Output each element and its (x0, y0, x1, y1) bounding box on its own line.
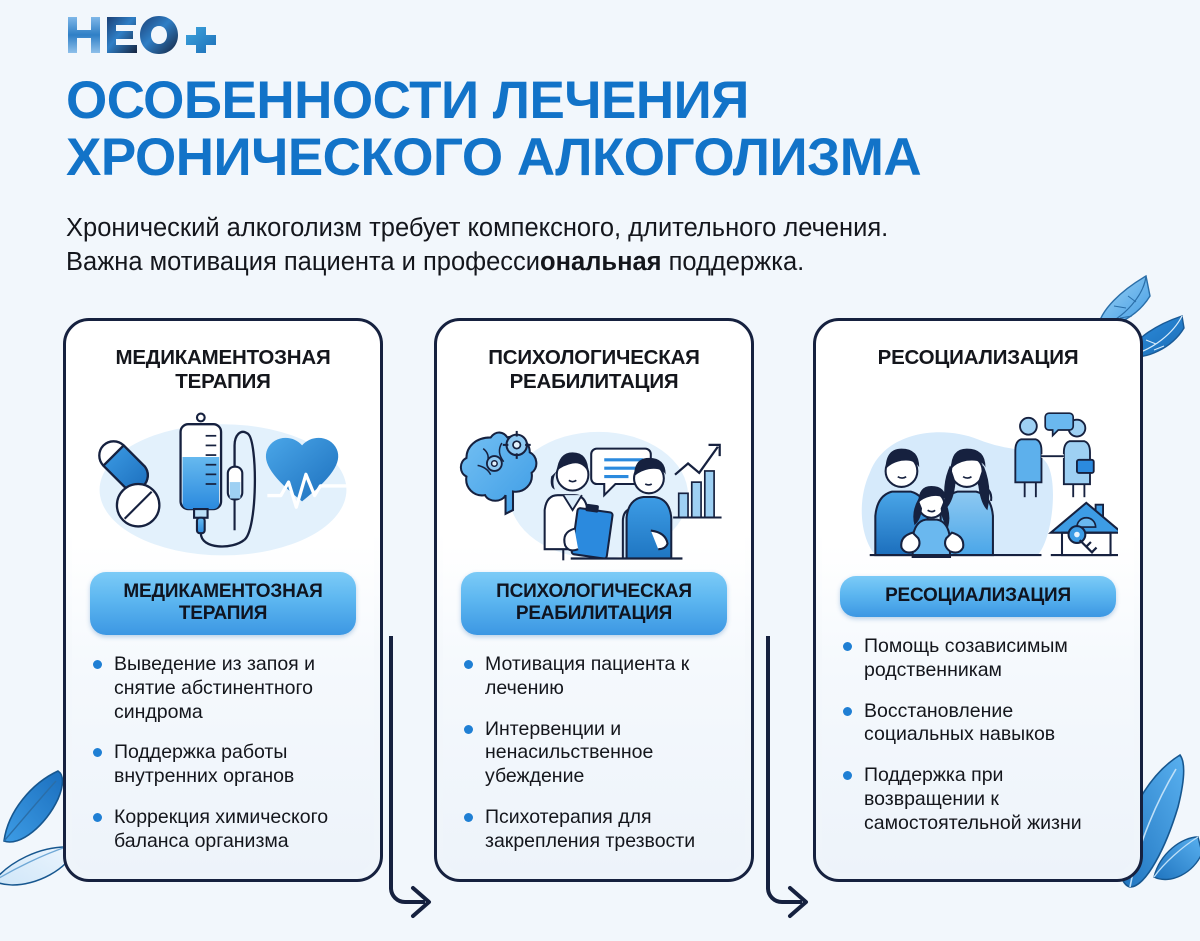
page-subtitle: Хронический алкоголизм требует компексно… (66, 212, 1126, 280)
list-item: Коррекция химического баланса организма (92, 806, 358, 854)
stage-pill-label[interactable]: МЕДИКАМЕНТОЗНАЯ ТЕРАПИЯ (90, 572, 356, 635)
card-title: РЕСОЦИАЛИЗАЦИЯ (838, 346, 1118, 396)
list-item: Интервенции и ненасильственное убеждение (463, 718, 729, 789)
medication-therapy-illustration (88, 400, 358, 568)
subtitle-line2-c: поддержка. (662, 248, 805, 276)
treatment-stages-row: МЕДИКАМЕНТОЗНАЯ ТЕРАПИЯ (0, 318, 1200, 896)
page-title-line2: ХРОНИЧЕСКОГО АЛКОГОЛИЗМА (66, 129, 1166, 186)
card-title: ПСИХОЛОГИЧЕСКАЯ РЕАБИЛИТАЦИЯ (459, 346, 729, 396)
list-item: Восстановление социальных навыков (842, 700, 1118, 748)
list-item: Психотерапия для закрепления трезвости (463, 806, 729, 854)
stage-pill-label[interactable]: РЕСОЦИАЛИЗАЦИЯ (840, 576, 1116, 617)
resocialization-illustration (838, 400, 1118, 572)
arrow-card2-to-card3 (760, 636, 816, 941)
list-item: Поддержка работы внутренних органов (92, 741, 358, 789)
stage-pill-label[interactable]: ПСИХОЛОГИЧЕСКАЯ РЕАБИЛИТАЦИЯ (461, 572, 727, 635)
briefcase-icon (1077, 460, 1094, 473)
house-with-key-icon (1051, 503, 1118, 555)
neo-plus-logo-icon (66, 14, 236, 56)
list-item: Помощь созависимым родственникам (842, 635, 1118, 683)
psychological-rehabilitation-illustration (459, 400, 729, 568)
card-medication-therapy[interactable]: МЕДИКАМЕНТОЗНАЯ ТЕРАПИЯ (63, 318, 383, 882)
list-item: Мотивация пациента к лечению (463, 653, 729, 701)
subtitle-line2-a: Важна мотивация пациента и професси (66, 248, 540, 276)
card-bullet-list: Выведение из запоя и снятие абстинентног… (92, 653, 358, 870)
arrow-card1-to-card2 (383, 636, 439, 941)
subtitle-line1: Хронический алкоголизм требует компексно… (66, 214, 888, 242)
brand-logo[interactable] (66, 14, 236, 56)
card-bullet-list: Мотивация пациента к лечению Интервенции… (463, 653, 729, 870)
card-resocialization[interactable]: РЕСОЦИАЛИЗАЦИЯ (813, 318, 1143, 882)
page-title: ОСОБЕННОСТИ ЛЕЧЕНИЯ ХРОНИЧЕСКОГО АЛКОГОЛ… (66, 72, 1166, 186)
list-item: Поддержка при возвращении к самостоятель… (842, 764, 1118, 835)
page-title-line1: ОСОБЕННОСТИ ЛЕЧЕНИЯ (66, 71, 749, 130)
tablet-pill-icon (117, 484, 159, 526)
list-item: Выведение из запоя и снятие абстинентног… (92, 653, 358, 724)
card-bullet-list: Помощь созависимым родственникам Восстан… (842, 635, 1118, 852)
card-psychological-rehabilitation[interactable]: ПСИХОЛОГИЧЕСКАЯ РЕАБИЛИТАЦИЯ (434, 318, 754, 882)
subtitle-line2-bold: ональная (540, 248, 662, 276)
card-title: МЕДИКАМЕНТОЗНАЯ ТЕРАПИЯ (88, 346, 358, 396)
